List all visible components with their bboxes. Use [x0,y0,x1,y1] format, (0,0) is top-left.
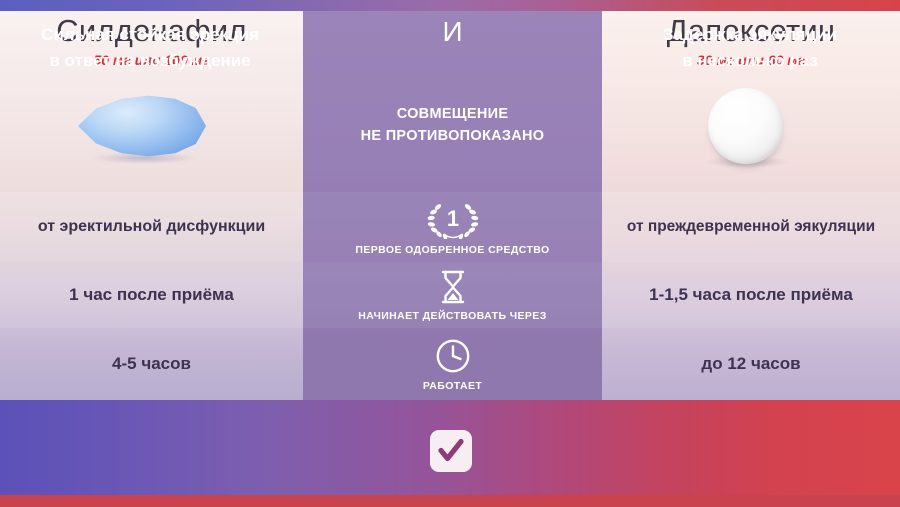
column-combination: И СОВМЕЩЕНИЕ НЕ ПРОТИВОПОКАЗАНО 1 [303,0,602,400]
right-row-onset-label: 1-1,5 часа после приёма [641,285,861,305]
combination-headline: СОВМЕЩЕНИЕ НЕ ПРОТИВОПОКАЗАНО [303,103,602,147]
right-row-indication-label: от преждевременной эякуляции [619,218,883,236]
right-row-onset: 1-1,5 часа после приёма [602,262,900,328]
checkmark-box-icon [430,430,472,472]
left-row-indication-label: от эректильной дисфункции [30,218,273,236]
top-accent-bar [0,0,900,11]
right-row-duration: до 12 часов [602,328,900,400]
left-row-duration: 4-5 часов [0,328,303,400]
white-round-pill-icon [708,88,784,164]
conjunction-label: И [303,16,602,48]
banner-right-line1: Задержка эякуляции [663,22,837,48]
left-row-indication: от эректильной дисфункции [0,192,303,262]
combination-headline-line1: СОВМЕЩЕНИЕ [303,103,602,125]
right-row-duration-label: до 12 часов [693,354,808,374]
banner-right-line2: в несколько раз [663,48,837,74]
comparison-infographic: Силденафил 50 мг или 100 мг от эректильн… [0,0,900,507]
hourglass-icon [438,269,468,305]
left-row-onset: 1 час после приёма [0,262,303,328]
right-row-indication: от преждевременной эякуляции [602,192,900,262]
blue-lens-pill-icon [78,95,206,157]
mid-row-onset: НАЧИНАЕТ ДЕЙСТВОВАТЬ ЧЕРЕЗ [303,262,602,328]
banner-right-text: Задержка эякуляции в несколько раз [600,0,900,95]
left-row-duration-label: 4-5 часов [104,354,199,374]
mid-caption-first-approved: ПЕРВОЕ ОДОБРЕННОЕ СРЕДСТВО [355,244,549,256]
mid-row-duration: РАБОТАЕТ [303,328,602,400]
clock-icon [434,337,472,375]
mid-caption-onset: НАЧИНАЕТ ДЕЙСТВОВАТЬ ЧЕРЕЗ [358,310,546,322]
laurel-wreath-one-icon: 1 [424,199,482,239]
check-icon [437,437,465,465]
mid-caption-duration: РАБОТАЕТ [423,380,482,392]
bottom-accent-bar [0,495,900,507]
combination-headline-line2: НЕ ПРОТИВОПОКАЗАНО [303,125,602,147]
left-row-onset-label: 1 час после приёма [61,285,242,305]
banner-left-text: Сильная стойкая эрекция в ответ на возбу… [0,0,300,95]
banner-left-line2: в ответ на возбуждение [41,48,259,74]
banner-left-line1: Сильная стойкая эрекция [41,22,259,48]
mid-row-first-approved: 1 [303,192,602,262]
svg-text:1: 1 [446,206,458,231]
